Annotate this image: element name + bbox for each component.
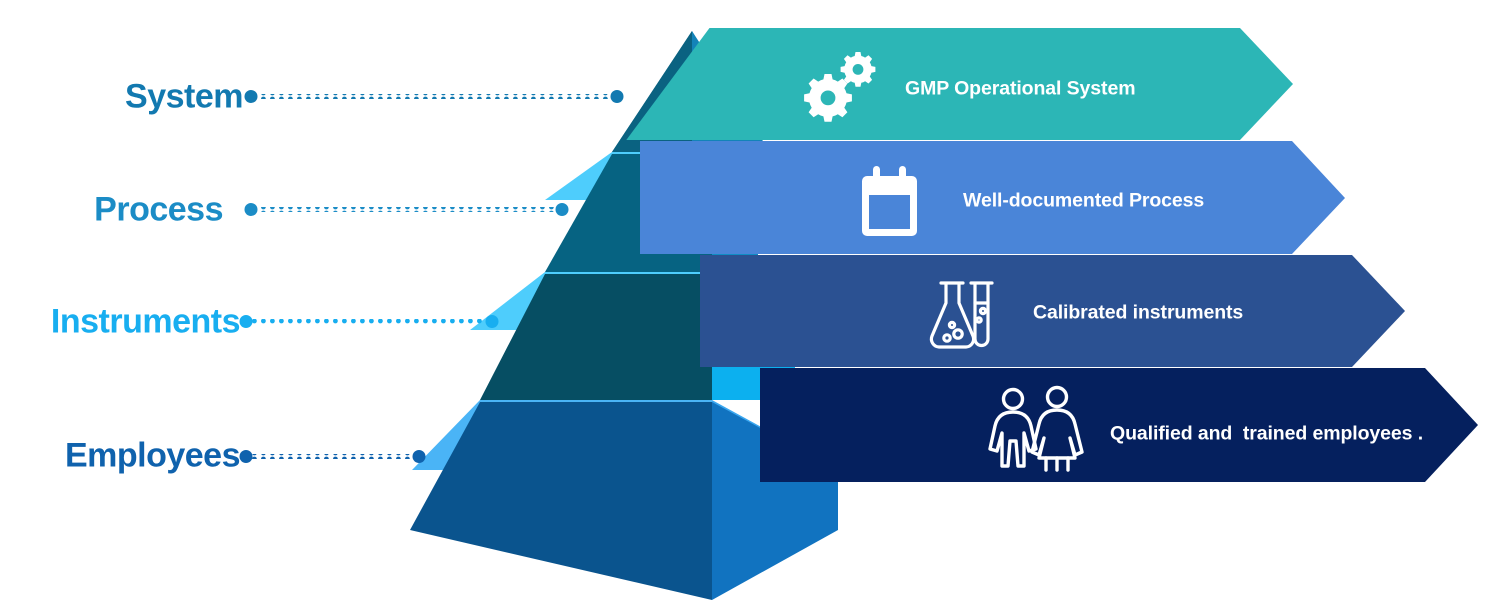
tier-label-process[interactable]: Process [94, 191, 223, 230]
connector-dot-icon [240, 450, 253, 463]
banner-label-well-documented-process[interactable]: Well-documented Process [963, 190, 1204, 213]
connector-dot-icon [413, 450, 426, 463]
connector-dot-icon [245, 203, 258, 216]
connector-dot-icon [240, 315, 253, 328]
leader-line-system [245, 90, 624, 103]
leader-line-instruments [240, 315, 499, 328]
connector-dot-icon [486, 315, 499, 328]
banner-label-qualified-trained-employees[interactable]: Qualified and trained employees . [1110, 423, 1423, 446]
banner-label-calibrated-instruments[interactable]: Calibrated instruments [1033, 302, 1243, 325]
tier-label-employees[interactable]: Employees [65, 437, 240, 476]
tier3-left-face [480, 274, 712, 400]
diagram-canvas: System Process Instruments Employees GMP… [0, 0, 1500, 614]
calendar-icon [862, 166, 917, 236]
banner-label-gmp-operational-system[interactable]: GMP Operational System [905, 78, 1135, 101]
connector-dot-icon [556, 203, 569, 216]
connector-dot-icon [611, 90, 624, 103]
leader-line-process [245, 203, 569, 216]
tier-label-system[interactable]: System [125, 78, 243, 117]
leader-line-employees [240, 450, 426, 463]
connector-dot-icon [245, 90, 258, 103]
tier-label-instruments[interactable]: Instruments [51, 303, 240, 342]
